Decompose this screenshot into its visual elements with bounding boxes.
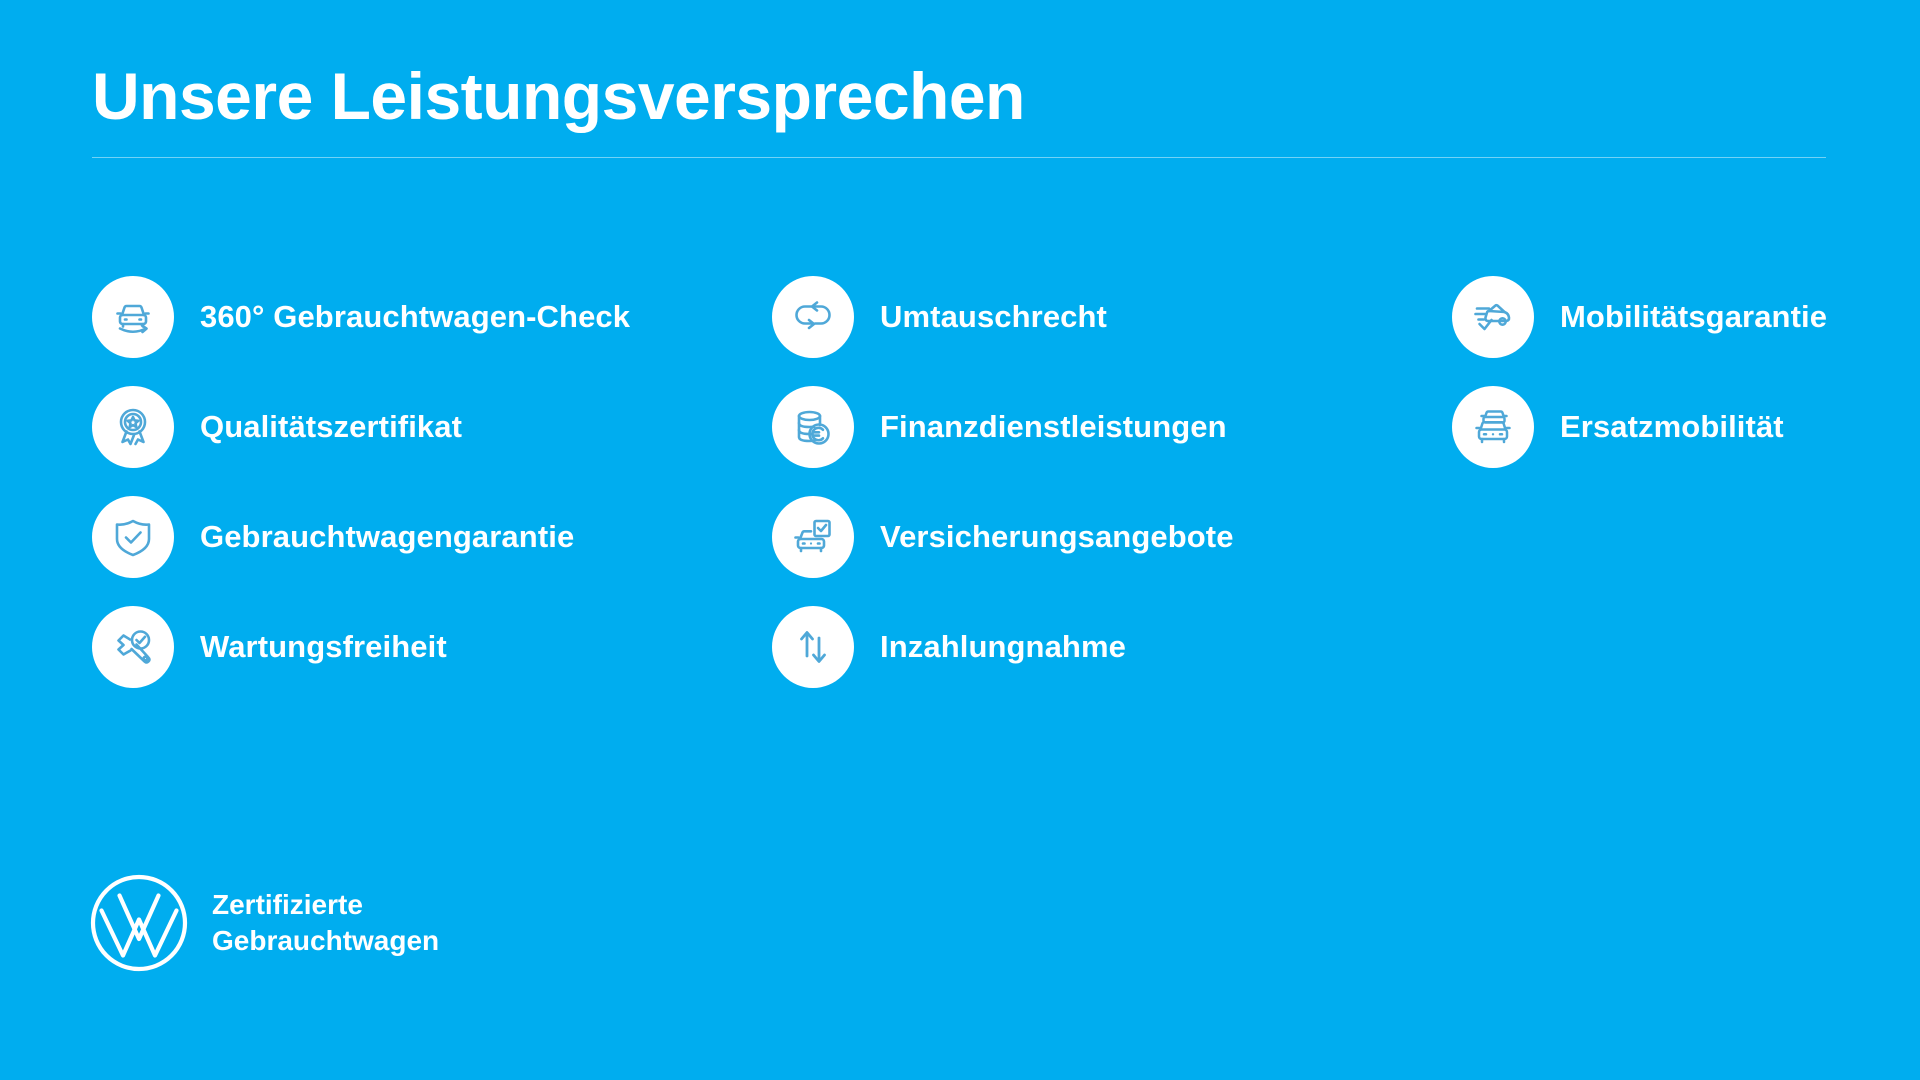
brand-text-line2: Gebrauchtwagen <box>212 923 439 959</box>
benefit-item-quality-certificate[interactable]: Qualitätszertifikat <box>92 372 772 482</box>
volkswagen-logo-icon <box>88 872 190 974</box>
arrows-up-down-icon <box>772 606 854 688</box>
benefit-label: Umtauschrecht <box>880 299 1107 335</box>
award-rosette-icon <box>92 386 174 468</box>
benefit-label: Ersatzmobilität <box>1560 409 1784 445</box>
car-360-check-icon <box>92 276 174 358</box>
benefits-column-1: 360° Gebrauchtwagen-Check Qualitätszerti… <box>92 262 772 702</box>
benefit-label: Mobilitätsgarantie <box>1560 299 1827 335</box>
benefit-item-financial-services[interactable]: Finanzdienstleistungen <box>772 372 1452 482</box>
exchange-arrows-icon <box>772 276 854 358</box>
benefit-item-insurance-offers[interactable]: Versicherungsangebote <box>772 482 1452 592</box>
header: Unsere Leistungsversprechen <box>92 62 1828 158</box>
shield-check-icon <box>92 496 174 578</box>
benefit-item-exchange-right[interactable]: Umtauschrecht <box>772 262 1452 372</box>
brand-text-line1: Zertifizierte <box>212 887 439 923</box>
two-cars-icon <box>1452 386 1534 468</box>
slide-root: Unsere Leistungsversprechen <box>0 0 1920 1080</box>
benefit-item-maintenance-free[interactable]: Wartungsfreiheit <box>92 592 772 702</box>
wrench-check-icon <box>92 606 174 688</box>
page-title: Unsere Leistungsversprechen <box>92 62 1828 131</box>
benefit-label: Inzahlungnahme <box>880 629 1126 665</box>
benefit-item-trade-in[interactable]: Inzahlungnahme <box>772 592 1452 702</box>
benefit-label: Qualitätszertifikat <box>200 409 462 445</box>
car-document-check-icon <box>772 496 854 578</box>
benefit-label: 360° Gebrauchtwagen-Check <box>200 299 630 335</box>
benefits-column-2: Umtauschrecht Finanz <box>772 262 1452 702</box>
moving-car-check-icon <box>1452 276 1534 358</box>
brand-lockup: Zertifizierte Gebrauchtwagen <box>88 872 439 974</box>
benefit-label: Gebrauchtwagengarantie <box>200 519 574 555</box>
benefit-item-warranty[interactable]: Gebrauchtwagengarantie <box>92 482 772 592</box>
benefit-item-360-check[interactable]: 360° Gebrauchtwagen-Check <box>92 262 772 372</box>
brand-text: Zertifizierte Gebrauchtwagen <box>212 887 439 959</box>
coins-euro-icon <box>772 386 854 468</box>
benefits-column-3: Mobilitätsgarantie <box>1452 262 1852 702</box>
benefits-grid: 360° Gebrauchtwagen-Check Qualitätszerti… <box>92 262 1852 702</box>
benefit-label: Versicherungsangebote <box>880 519 1234 555</box>
benefit-item-mobility-guarantee[interactable]: Mobilitätsgarantie <box>1452 262 1852 372</box>
benefit-item-replacement-mobility[interactable]: Ersatzmobilität <box>1452 372 1852 482</box>
benefit-label: Finanzdienstleistungen <box>880 409 1227 445</box>
benefit-label: Wartungsfreiheit <box>200 629 447 665</box>
header-divider <box>92 157 1826 158</box>
